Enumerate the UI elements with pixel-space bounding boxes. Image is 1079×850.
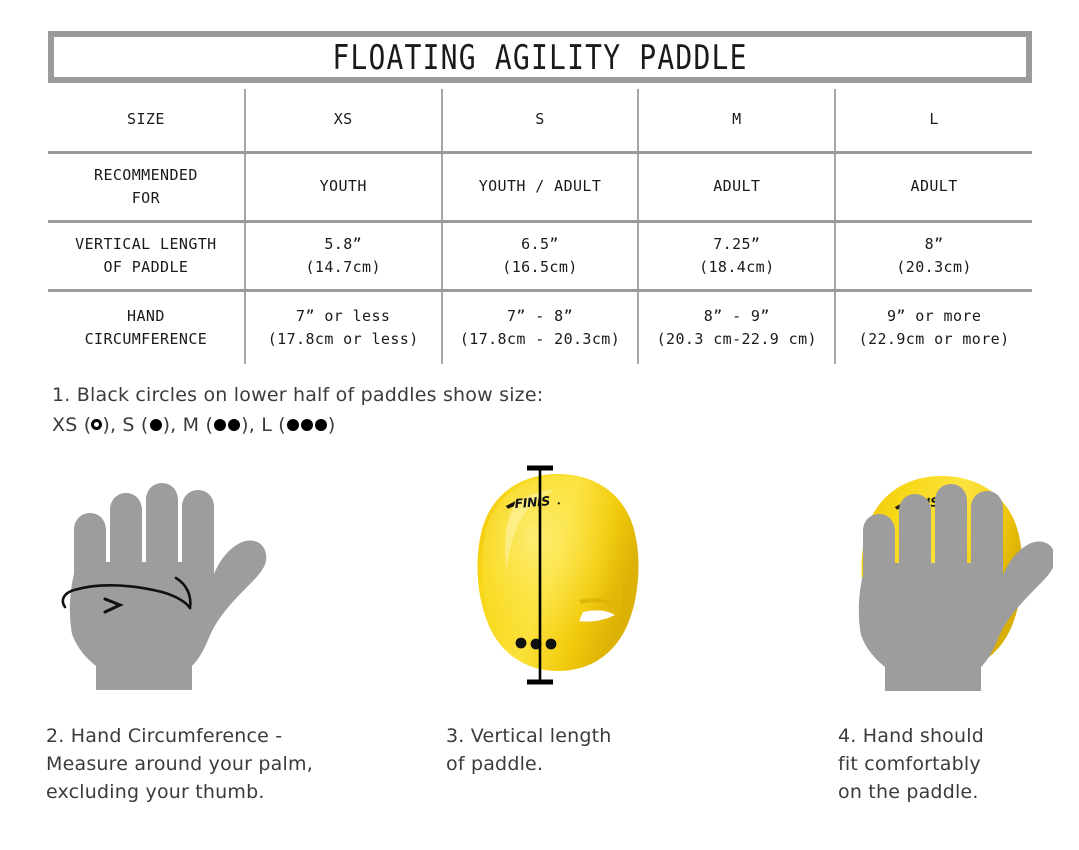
note-1-s-mid: ), S (	[102, 414, 148, 436]
cell-size-l: L	[835, 89, 1032, 153]
cell-recommended-l: ADULT	[835, 153, 1032, 222]
cell-hand-xs-in: 7” or less	[246, 305, 441, 328]
cell-size-m: M	[638, 89, 835, 153]
row-header-vertical-length-line2: OF PADDLE	[48, 256, 244, 279]
cell-hand-m-cm: (20.3 cm-22.9 cm)	[639, 328, 834, 351]
caption-hand-circumference: 2. Hand Circumference - Measure around y…	[46, 722, 426, 806]
note-1-l-mid: ), L (	[241, 414, 286, 436]
cell-length-s-cm: (16.5cm)	[443, 256, 638, 279]
size-dot-filled-icon	[315, 419, 327, 431]
cell-length-l-in: 8”	[836, 233, 1032, 256]
cell-length-s-in: 6.5”	[443, 233, 638, 256]
paddle-length-illustration: FINIS	[455, 460, 665, 695]
cell-hand-l: 9” or more (22.9cm or more)	[835, 291, 1032, 365]
cell-hand-l-in: 9” or more	[836, 305, 1032, 328]
cell-hand-l-cm: (22.9cm or more)	[836, 328, 1032, 351]
size-dot-filled-icon	[301, 419, 313, 431]
hand-measure-illustration	[50, 462, 290, 692]
cell-length-m: 7.25” (18.4cm)	[638, 222, 835, 291]
cell-length-m-in: 7.25”	[639, 233, 834, 256]
table-row-hand-circumference: HAND CIRCUMFERENCE 7” or less (17.8cm or…	[48, 291, 1032, 365]
caption-vertical-length: 3. Vertical length of paddle.	[446, 722, 746, 778]
page-title: FLOATING AGILITY PADDLE	[332, 37, 747, 77]
size-dot-hollow-icon	[91, 419, 102, 430]
cell-recommended-s: YOUTH / ADULT	[442, 153, 639, 222]
cell-size-s: S	[442, 89, 639, 153]
note-1-line2: XS (), S (), M (), L ()	[52, 411, 752, 439]
cell-length-xs-in: 5.8”	[246, 233, 441, 256]
note-1-line1: 1. Black circles on lower half of paddle…	[52, 384, 543, 406]
cell-hand-m-in: 8” - 9”	[639, 305, 834, 328]
row-header-vertical-length-line1: VERTICAL LENGTH	[48, 233, 244, 256]
cell-length-xs: 5.8” (14.7cm)	[245, 222, 442, 291]
row-header-recommended-for: RECOMMENDED FOR	[48, 153, 245, 222]
row-header-recommended-for-line1: RECOMMENDED	[48, 164, 244, 187]
caption-hand-fit: 4. Hand should fit comfortably on the pa…	[838, 722, 1079, 806]
row-header-hand-circumference-line1: HAND	[48, 305, 244, 328]
size-dot-filled-icon	[214, 419, 226, 431]
cell-size-xs: XS	[245, 89, 442, 153]
size-dot-filled-icon	[150, 419, 162, 431]
cell-hand-s: 7” - 8” (17.8cm - 20.3cm)	[442, 291, 639, 365]
paddle-size-dots-icon	[516, 638, 557, 650]
row-header-hand-circumference-line2: CIRCUMFERENCE	[48, 328, 244, 351]
note-1-suffix: )	[328, 414, 336, 436]
note-1-xs-prefix: XS (	[52, 414, 91, 436]
cell-length-xs-cm: (14.7cm)	[246, 256, 441, 279]
row-header-vertical-length: VERTICAL LENGTH OF PADDLE	[48, 222, 245, 291]
hand-on-paddle-illustration: FINIS	[838, 460, 1053, 695]
note-1-m-mid: ), M (	[163, 414, 214, 436]
table-row-size: SIZE XS S M L	[48, 89, 1032, 153]
cell-hand-xs: 7” or less (17.8cm or less)	[245, 291, 442, 365]
cell-hand-xs-cm: (17.8cm or less)	[246, 328, 441, 351]
cell-length-s: 6.5” (16.5cm)	[442, 222, 639, 291]
table-row-recommended-for: RECOMMENDED FOR YOUTH YOUTH / ADULT ADUL…	[48, 153, 1032, 222]
size-dot-filled-icon	[228, 419, 240, 431]
size-dot-filled-icon	[287, 419, 299, 431]
cell-length-l-cm: (20.3cm)	[836, 256, 1032, 279]
title-box: FLOATING AGILITY PADDLE	[48, 31, 1032, 83]
cell-hand-m: 8” - 9” (20.3 cm-22.9 cm)	[638, 291, 835, 365]
cell-recommended-xs: YOUTH	[245, 153, 442, 222]
row-header-hand-circumference: HAND CIRCUMFERENCE	[48, 291, 245, 365]
table-row-vertical-length: VERTICAL LENGTH OF PADDLE 5.8” (14.7cm) …	[48, 222, 1032, 291]
cell-hand-s-in: 7” - 8”	[443, 305, 638, 328]
cell-length-m-cm: (18.4cm)	[639, 256, 834, 279]
size-chart-table: SIZE XS S M L RECOMMENDED FOR YOUTH YOUT…	[48, 89, 1032, 364]
cell-length-l: 8” (20.3cm)	[835, 222, 1032, 291]
row-header-size: SIZE	[48, 89, 245, 153]
cell-hand-s-cm: (17.8cm - 20.3cm)	[443, 328, 638, 351]
row-header-recommended-for-line2: FOR	[48, 187, 244, 210]
svg-text:FINIS: FINIS	[514, 493, 551, 511]
note-1: 1. Black circles on lower half of paddle…	[52, 381, 752, 439]
cell-recommended-m: ADULT	[638, 153, 835, 222]
